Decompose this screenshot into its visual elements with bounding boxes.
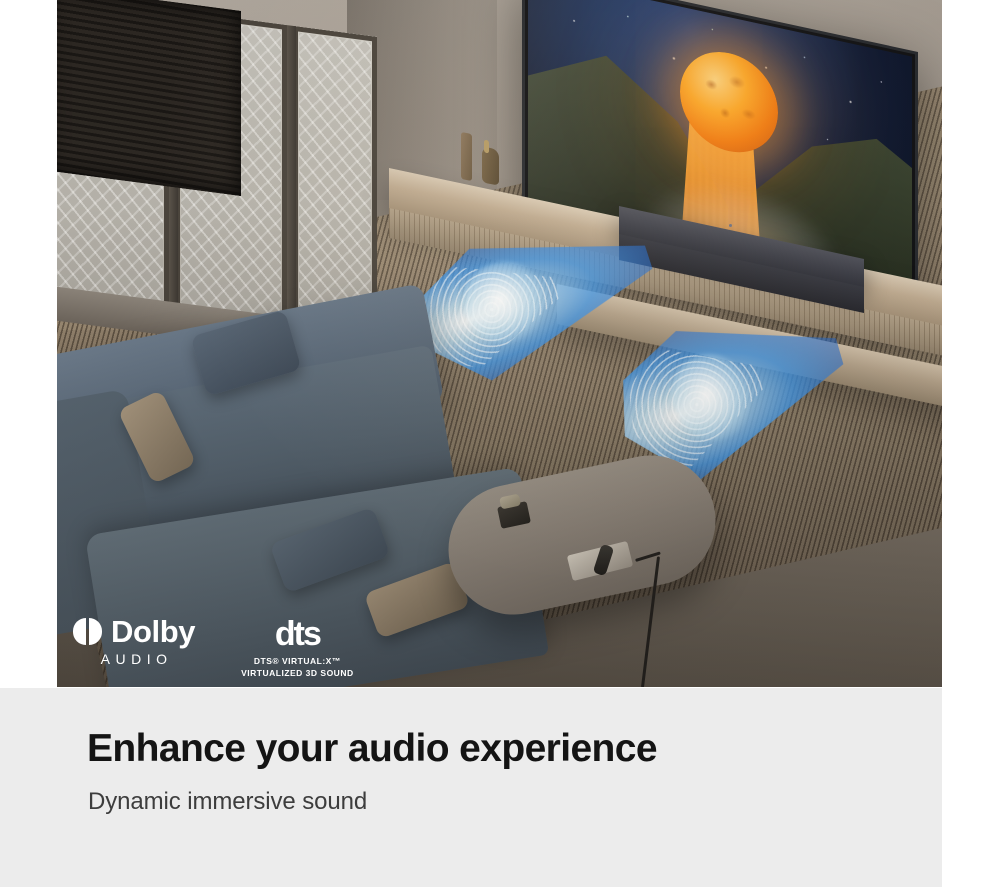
page-title: Enhance your audio experience (87, 728, 657, 771)
dolby-audio-label: AUDIO (96, 651, 173, 667)
decor-vase-tall (461, 132, 472, 181)
dts-logo: dts DTS® VIRTUAL:X™ VIRTUALIZED 3D SOUND (241, 616, 353, 679)
door-panel (293, 26, 377, 337)
hero-photo: Dolby AUDIO dts DTS® VIRTUAL:X™ VIRTUALI… (57, 0, 942, 687)
dolby-wordmark: Dolby (111, 616, 195, 647)
page-subtitle: Dynamic immersive sound (88, 788, 367, 816)
dts-3d-sound-label: VIRTUALIZED 3D SOUND (241, 668, 353, 679)
dts-virtual-x-label: DTS® VIRTUAL:X™ (254, 656, 341, 667)
dolby-audio-logo: Dolby AUDIO (73, 616, 195, 667)
dolby-double-d-icon (73, 618, 102, 645)
window-blind (57, 0, 241, 196)
promo-banner: Dolby AUDIO dts DTS® VIRTUAL:X™ VIRTUALI… (0, 0, 1000, 887)
audio-certification-logos: Dolby AUDIO dts DTS® VIRTUAL:X™ VIRTUALI… (73, 616, 354, 679)
decor-vase-neck (484, 140, 489, 154)
caption-panel: Enhance your audio experience Dynamic im… (0, 688, 942, 887)
dts-wordmark: dts (275, 617, 320, 651)
soundbar-led-icon (729, 224, 732, 227)
glass-texture (299, 33, 371, 330)
door-mullion (287, 25, 296, 336)
dolby-logo-row: Dolby (73, 616, 195, 647)
